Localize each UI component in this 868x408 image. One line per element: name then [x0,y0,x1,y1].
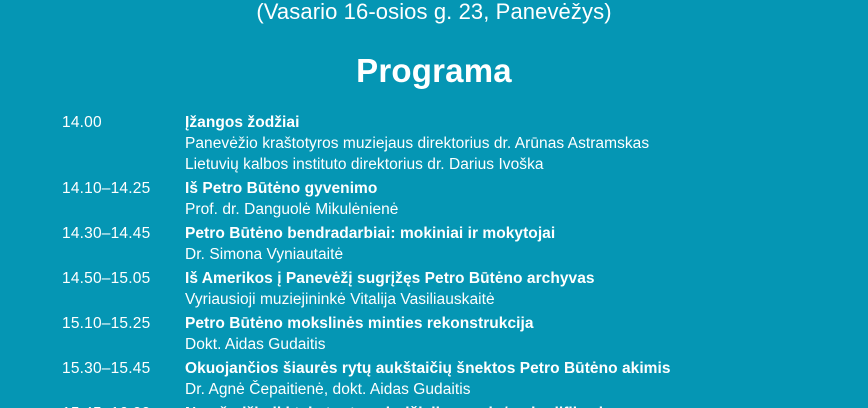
schedule-row: 14.30–14.45Petro Būtėno bendradarbiai: m… [62,223,862,265]
schedule-row-title: Iš Amerikos į Panevėžį sugrįžęs Petro Bū… [185,268,862,289]
schedule-row-body: Įžangos žodžiaiPanevėžio kraštotyros muz… [185,112,862,175]
schedule-row-title: Įžangos žodžiai [185,112,862,133]
schedule-row-time: 14.00 [62,112,185,133]
schedule-row-speaker: Prof. dr. Danguolė Mikulėnienė [185,199,862,220]
schedule-row-time: 14.50–15.05 [62,268,185,289]
schedule-row: 15.10–15.25Petro Būtėno mokslinės mintie… [62,313,862,355]
schedule-row-time: 15.45–16.00 [62,403,185,408]
schedule-row-speaker: Dr. Agnė Čepaitienė, dokt. Aidas Gudaiti… [185,379,862,400]
schedule-row-body: Okuojančios šiaurės rytų aukštaičių šnek… [185,358,862,400]
schedule-row: 14.00Įžangos žodžiaiPanevėžio kraštotyro… [62,112,862,175]
schedule-row: 14.50–15.05Iš Amerikos į Panevėžį sugrįž… [62,268,862,310]
schedule-row-body: Petro Būtėno mokslinės minties rekonstru… [185,313,862,355]
schedule-row-time: 14.30–14.45 [62,223,185,244]
schedule-row-body: Petro Būtėno bendradarbiai: mokiniai ir … [185,223,862,265]
schedule-row-speaker: Vyriausioji muziejininkė Vitalija Vasili… [185,289,862,310]
schedule-row: 14.10–14.25Iš Petro Būtėno gyvenimoProf.… [62,178,862,220]
schedule-row-title: Nuo žodžio iki teksto: tarmės išlaikymas… [185,403,862,408]
schedule-row-title: Petro Būtėno mokslinės minties rekonstru… [185,313,862,334]
schedule-row-time: 15.30–15.45 [62,358,185,379]
schedule-row-title: Okuojančios šiaurės rytų aukštaičių šnek… [185,358,862,379]
schedule-row-body: Iš Amerikos į Panevėžį sugrįžęs Petro Bū… [185,268,862,310]
schedule-row-speaker: Lietuvių kalbos instituto direktorius dr… [185,154,862,175]
schedule-row-time: 15.10–15.25 [62,313,185,334]
page-title: Programa [0,51,868,91]
schedule-row: 15.45–16.00Nuo žodžio iki teksto: tarmės… [62,403,862,408]
program-poster: (Vasario 16-osios g. 23, Panevėžys) Prog… [0,0,868,408]
schedule-row-body: Nuo žodžio iki teksto: tarmės išlaikymas… [185,403,862,408]
schedule-row-body: Iš Petro Būtėno gyvenimoProf. dr. Danguo… [185,178,862,220]
schedule-row-time: 14.10–14.25 [62,178,185,199]
schedule-row-speaker: Panevėžio kraštotyros muziejaus direktor… [185,133,862,154]
venue-address-line: (Vasario 16-osios g. 23, Panevėžys) [0,0,868,27]
schedule-row-title: Petro Būtėno bendradarbiai: mokiniai ir … [185,223,862,244]
schedule-row-speaker: Dr. Simona Vyniautaitė [185,244,862,265]
schedule-row: 15.30–15.45Okuojančios šiaurės rytų aukš… [62,358,862,400]
schedule-row-title: Iš Petro Būtėno gyvenimo [185,178,862,199]
schedule-row-speaker: Dokt. Aidas Gudaitis [185,334,862,355]
schedule-list: 14.00Įžangos žodžiaiPanevėžio kraštotyro… [62,112,862,408]
